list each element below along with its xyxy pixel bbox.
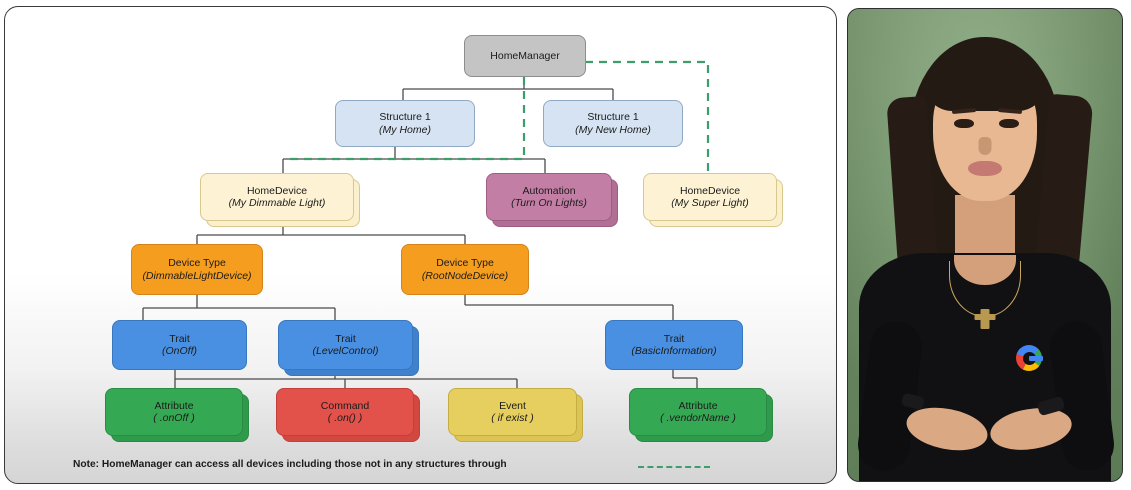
node-sublabel: (My Dimmable Light) [229, 197, 326, 209]
node-label: Command [321, 400, 369, 412]
screenshot-root: HomeManager Structure 1 (My Home) Struct… [0, 0, 1131, 490]
eye-left [954, 119, 974, 128]
node-trait-levelcontrol[interactable]: Trait (LevelControl) [278, 320, 413, 370]
node-sublabel: (Turn On Lights) [511, 197, 587, 209]
node-label: Trait [664, 333, 685, 345]
node-label: Event [499, 400, 526, 412]
node-trait-basicinformation[interactable]: Trait (BasicInformation) [605, 320, 743, 370]
node-label: Automation [522, 185, 575, 197]
hair-bangs [926, 53, 1044, 111]
node-sublabel: ( .onOff ) [153, 412, 194, 424]
node-homedevice-super-light[interactable]: HomeDevice (My Super Light) [643, 173, 777, 221]
mouth [968, 161, 1002, 176]
node-sublabel: ( .vendorName ) [660, 412, 736, 424]
google-g-logo-icon [1016, 345, 1042, 371]
slide-panel: HomeManager Structure 1 (My Home) Struct… [4, 6, 837, 484]
node-sublabel: (RootNodeDevice) [422, 270, 508, 282]
node-label: Device Type [168, 257, 226, 269]
node-attribute-onoff[interactable]: Attribute ( .onOff ) [105, 388, 243, 436]
node-home-manager[interactable]: HomeManager [464, 35, 586, 77]
node-label: HomeDevice [247, 185, 307, 197]
node-sublabel: (My Home) [379, 124, 431, 136]
node-command-on[interactable]: Command ( .on() ) [276, 388, 414, 436]
node-sublabel: (My New Home) [575, 124, 651, 136]
node-structure-my-home[interactable]: Structure 1 (My Home) [335, 100, 475, 147]
node-devicetype-dimmable[interactable]: Device Type (DimmableLightDevice) [131, 244, 263, 295]
eye-right [999, 119, 1019, 128]
diagram-canvas: HomeManager Structure 1 (My Home) Struct… [5, 7, 837, 484]
cross-pendant-icon [981, 309, 990, 329]
nose [979, 137, 992, 155]
node-label: Attribute [154, 400, 193, 412]
node-label: Device Type [436, 257, 494, 269]
node-sublabel: (My Super Light) [671, 197, 749, 209]
dashed-line-legend-icon [638, 466, 710, 468]
node-devicetype-rootnode[interactable]: Device Type (RootNodeDevice) [401, 244, 529, 295]
node-sublabel: ( if exist ) [491, 412, 534, 424]
slide-note: Note: HomeManager can access all devices… [73, 459, 507, 470]
node-event-if-exist[interactable]: Event ( if exist ) [448, 388, 577, 436]
node-label: Structure 1 [587, 111, 638, 123]
node-homedevice-dimmable[interactable]: HomeDevice (My Dimmable Light) [200, 173, 354, 221]
node-automation-turn-on-lights[interactable]: Automation (Turn On Lights) [486, 173, 612, 221]
presenter-video[interactable] [847, 8, 1123, 482]
node-sublabel: (BasicInformation) [631, 345, 716, 357]
node-structure-my-new-home[interactable]: Structure 1 (My New Home) [543, 100, 683, 147]
node-attribute-vendorname[interactable]: Attribute ( .vendorName ) [629, 388, 767, 436]
node-label: Attribute [678, 400, 717, 412]
node-sublabel: ( .on() ) [328, 412, 362, 424]
node-sublabel: (LevelControl) [313, 345, 379, 357]
node-label: Trait [169, 333, 190, 345]
node-label: HomeDevice [680, 185, 740, 197]
node-sublabel: (DimmableLightDevice) [142, 270, 251, 282]
node-trait-onoff[interactable]: Trait (OnOff) [112, 320, 247, 370]
node-label: HomeManager [490, 50, 559, 62]
node-label: Trait [335, 333, 356, 345]
node-label: Structure 1 [379, 111, 430, 123]
node-sublabel: (OnOff) [162, 345, 197, 357]
